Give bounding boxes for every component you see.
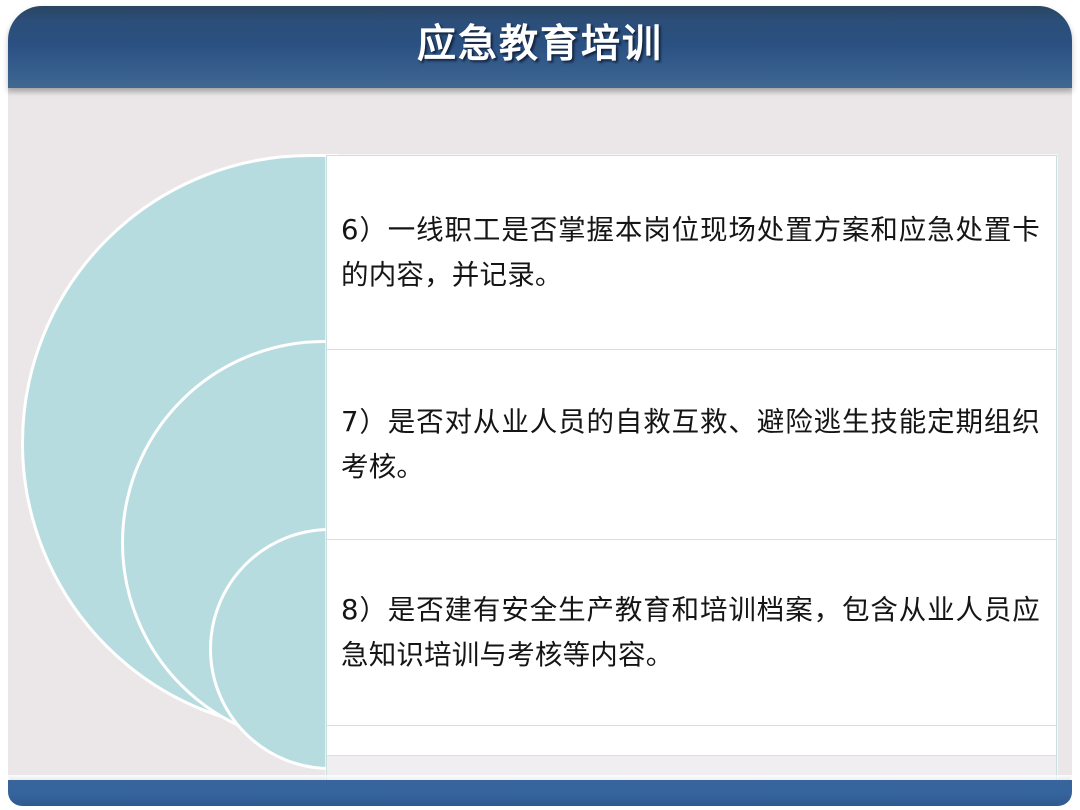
checklist-item-text: 6）一线职工是否掌握本岗位现场处置方案和应急处置卡的内容，并记录。 <box>327 208 1056 298</box>
table-row: 6）一线职工是否掌握本岗位现场处置方案和应急处置卡的内容，并记录。 <box>327 156 1056 350</box>
table-row: 7）是否对从业人员的自救互救、避险逃生技能定期组织考核。 <box>327 350 1056 540</box>
checklist-item-text: 8）是否建有安全生产教育和培训档案，包含从业人员应急知识培训与考核等内容。 <box>327 588 1056 678</box>
table-row <box>327 726 1056 756</box>
checklist-item-text: 7）是否对从业人员的自救互救、避险逃生技能定期组织考核。 <box>327 400 1056 490</box>
concentric-arcs-decoration <box>8 96 338 788</box>
page-title: 应急教育培训 <box>8 6 1072 88</box>
slide-footer-bar <box>8 780 1072 806</box>
checklist-table: 6）一线职工是否掌握本岗位现场处置方案和应急处置卡的内容，并记录。 7）是否对从… <box>326 155 1057 780</box>
table-row: 8）是否建有安全生产教育和培训档案，包含从业人员应急知识培训与考核等内容。 <box>327 540 1056 726</box>
slide-header-banner: 应急教育培训 <box>8 6 1072 88</box>
slide-canvas: 应急教育培训 6）一线职工是否掌握本岗位现场处置方案和应急处置卡的内容，并记录。… <box>0 0 1080 810</box>
